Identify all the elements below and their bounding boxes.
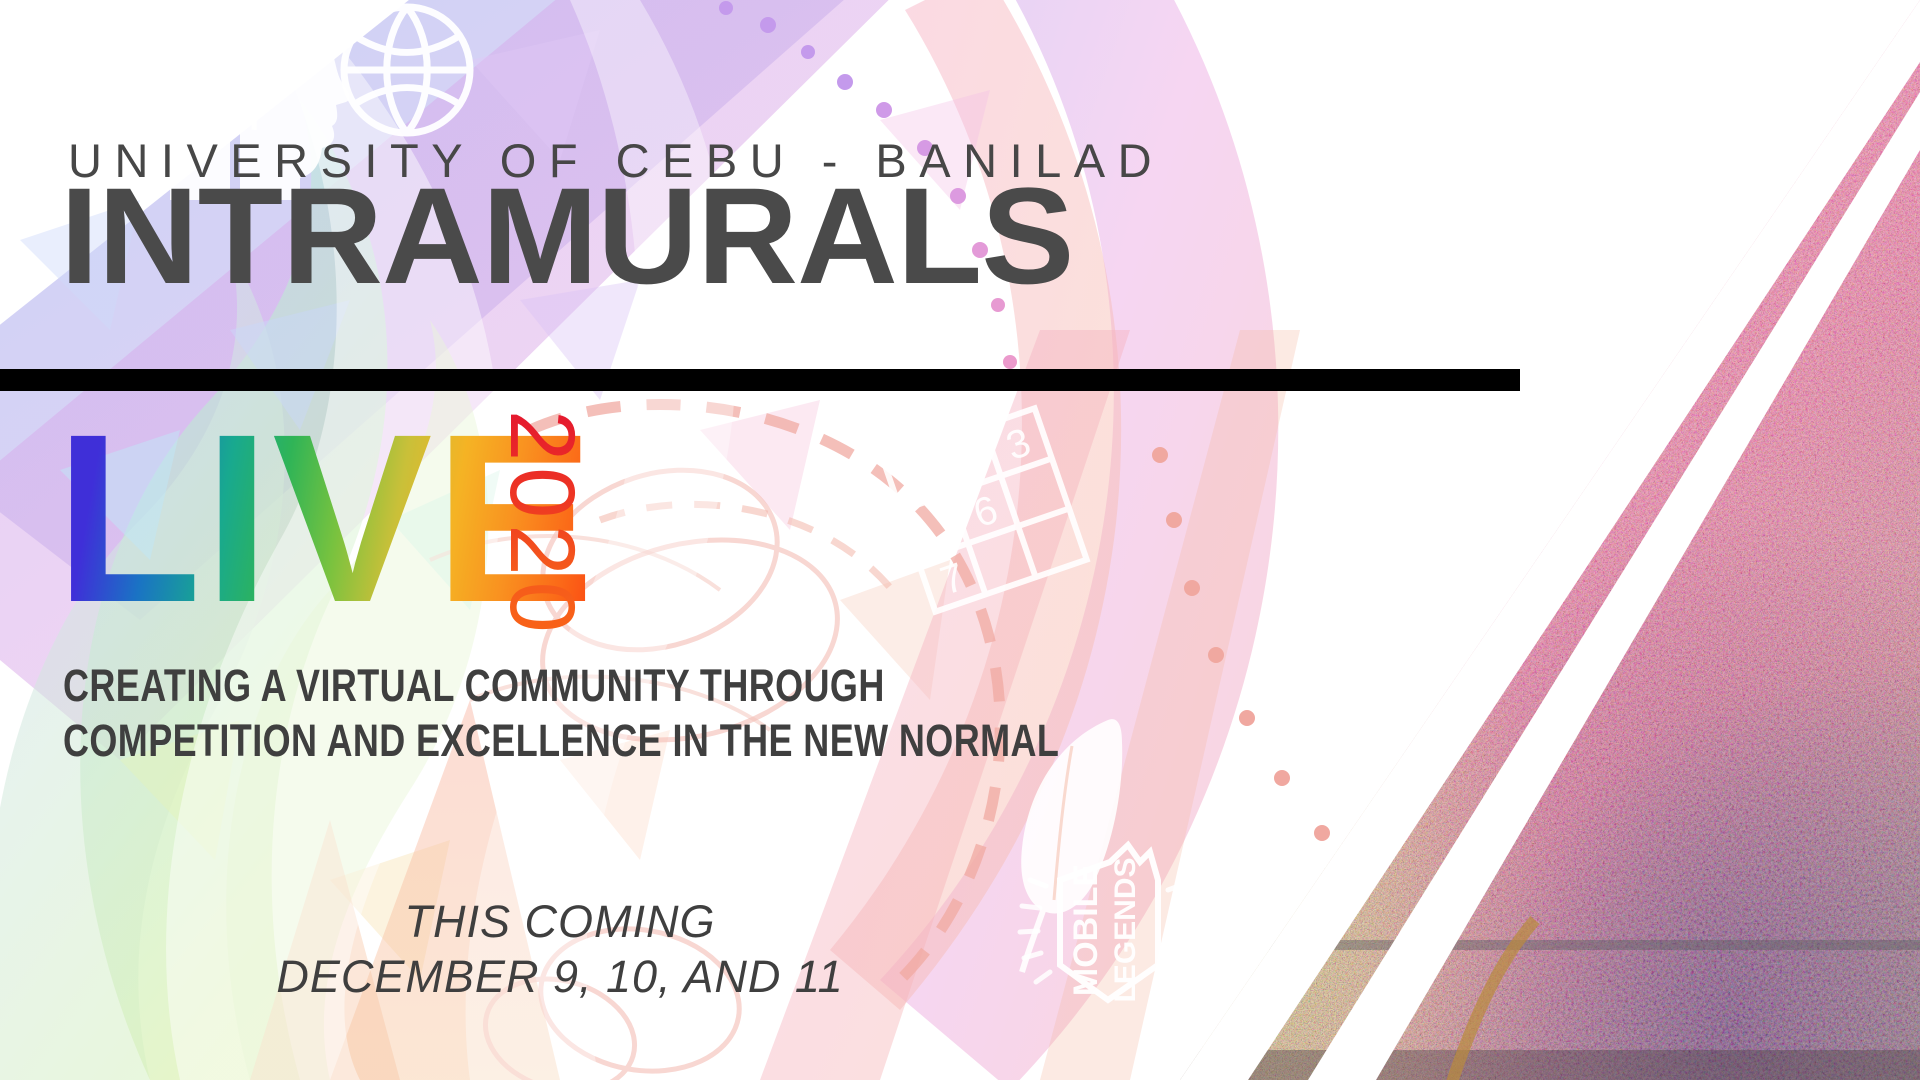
intramurals-poster: 3 6 7 (0, 0, 1920, 1080)
date-line-1: THIS COMING (405, 896, 716, 947)
tagline-line-1: CREATING A VIRTUAL COMMUNITY THROUGH (63, 660, 885, 711)
tagline: CREATING A VIRTUAL COMMUNITY THROUGH COM… (63, 658, 1007, 769)
date-line-2: DECEMBER 9, 10, AND 11 (0, 950, 1120, 1005)
poster-text-content: UNIVERSITY OF CEBU - BANILAD INTRAMURALS… (0, 0, 1560, 1080)
page-title: INTRAMURALS (60, 168, 1073, 305)
tagline-line-2: COMPETITION AND EXCELLENCE IN THE NEW NO… (63, 713, 1007, 768)
event-date-block: THIS COMING DECEMBER 9, 10, AND 11 (0, 895, 1120, 1005)
year-label: 2020 (489, 410, 594, 639)
